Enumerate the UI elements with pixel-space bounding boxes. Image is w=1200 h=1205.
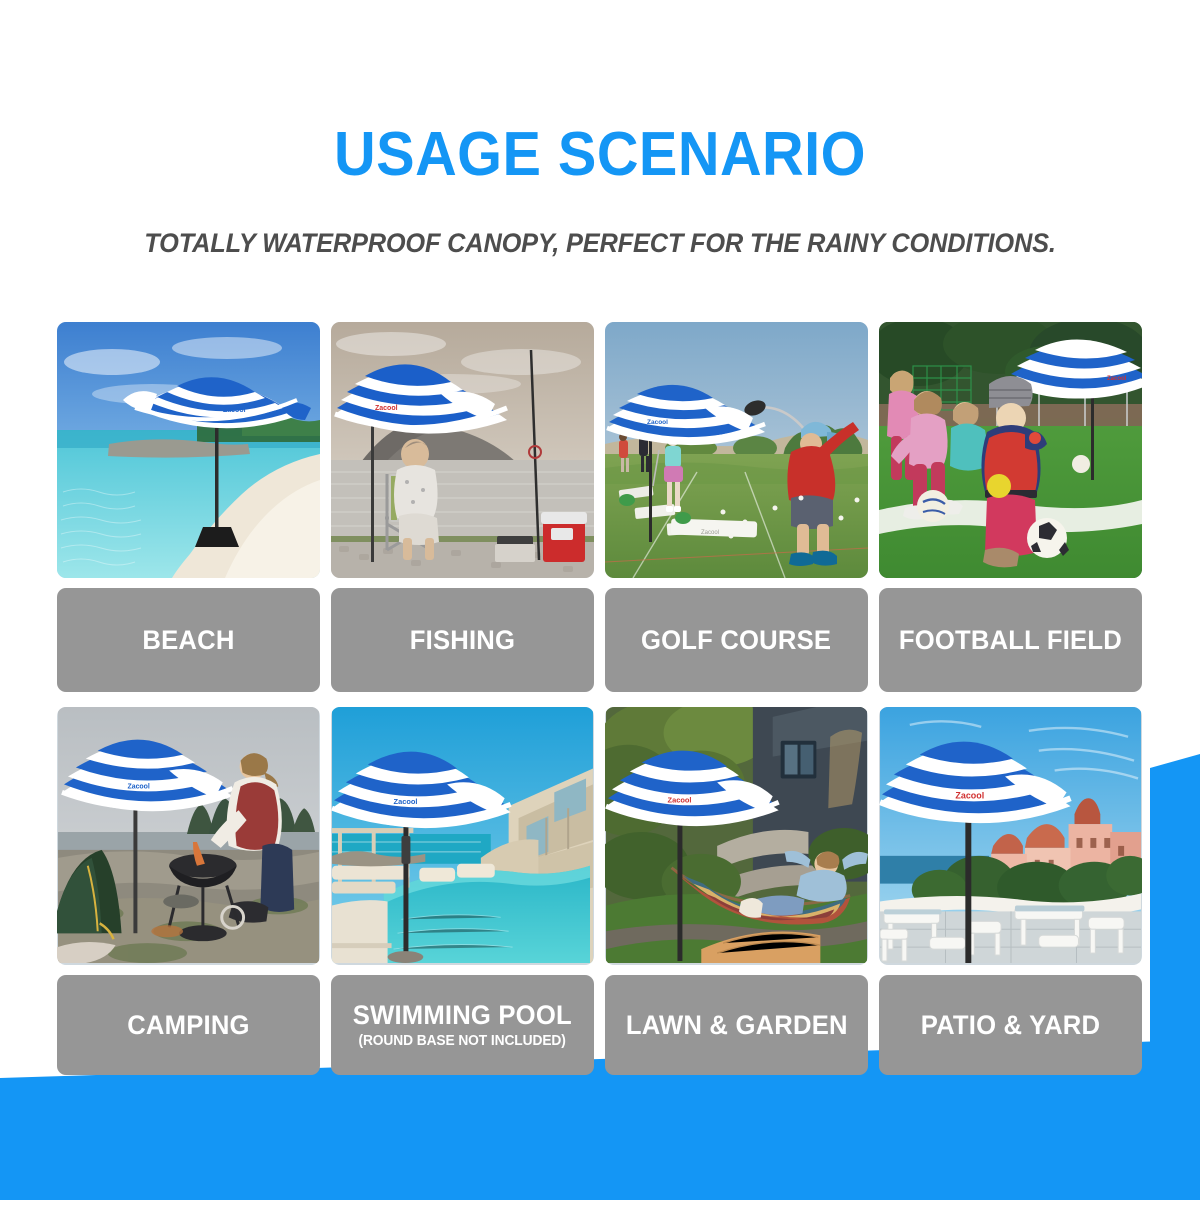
scenario-label: CAMPING bbox=[127, 1011, 249, 1039]
page-title: USAGE SCENARIO bbox=[42, 124, 1158, 186]
scenario-label: PATIO & YARD bbox=[921, 1011, 1100, 1039]
scenario-label-card: LAWN & GARDEN bbox=[605, 975, 868, 1075]
scenario-image-beach: Zacool bbox=[57, 322, 320, 578]
scenario-label: LAWN & GARDEN bbox=[626, 1011, 848, 1039]
svg-text:Zacool: Zacool bbox=[955, 790, 984, 800]
scenario-image-lawn-garden: Zacool bbox=[605, 707, 868, 965]
scenario-image-patio-yard: Zacool bbox=[879, 707, 1142, 965]
svg-text:Zacool: Zacool bbox=[668, 795, 692, 804]
page-subtitle: TOTALLY WATERPROOF CANOPY, PERFECT FOR T… bbox=[36, 228, 1164, 259]
scenario-image-camping: Zacool bbox=[57, 707, 320, 965]
scenario-label: SWIMMING POOL bbox=[353, 1001, 572, 1029]
svg-text:Zacool: Zacool bbox=[223, 407, 246, 414]
scenario-card-patio-yard[interactable]: Zacool PATIO & YARD bbox=[879, 707, 1142, 1075]
scenario-label-card: PATIO & YARD bbox=[879, 975, 1142, 1075]
svg-text:Zacool: Zacool bbox=[701, 530, 719, 536]
scenario-label: FOOTBALL FIELD bbox=[899, 626, 1122, 654]
svg-text:Zacool: Zacool bbox=[375, 405, 398, 412]
svg-text:Zacool: Zacool bbox=[647, 419, 668, 426]
scenario-card-football-field[interactable]: Zacool bbox=[879, 322, 1142, 692]
scenario-card-camping[interactable]: Zacool bbox=[57, 707, 320, 1075]
svg-text:Zacool: Zacool bbox=[127, 783, 149, 790]
scenario-card-golf-course[interactable]: Zacool bbox=[605, 322, 868, 692]
scenario-label: FISHING bbox=[410, 626, 515, 654]
scenario-image-golf-course: Zacool bbox=[605, 322, 868, 578]
scenario-image-football-field: Zacool bbox=[879, 322, 1142, 578]
scenario-label-card: CAMPING bbox=[57, 975, 320, 1075]
scenario-image-fishing: Zacool bbox=[331, 322, 594, 578]
scenario-grid: Zacool BEACH bbox=[57, 322, 1143, 1075]
scenario-label-card: BEACH bbox=[57, 588, 320, 692]
scenario-image-swimming-pool: Zacool bbox=[331, 707, 594, 965]
svg-text:Zacool: Zacool bbox=[1107, 376, 1127, 382]
scenario-card-beach[interactable]: Zacool BEACH bbox=[57, 322, 320, 692]
scenario-sublabel: (ROUND BASE NOT INCLUDED) bbox=[359, 1033, 566, 1049]
header: USAGE SCENARIO TOTALLY WATERPROOF CANOPY… bbox=[0, 0, 1200, 259]
scenario-label: GOLF COURSE bbox=[641, 626, 831, 654]
scenario-label-card: FISHING bbox=[331, 588, 594, 692]
svg-text:Zacool: Zacool bbox=[394, 797, 418, 806]
scenario-label-card: GOLF COURSE bbox=[605, 588, 868, 692]
scenario-card-fishing[interactable]: Zacool bbox=[331, 322, 594, 692]
scenario-card-swimming-pool[interactable]: Zacool SWIMMING POOL (ROUND BASE NOT INC… bbox=[331, 707, 594, 1075]
scenario-label-card: SWIMMING POOL (ROUND BASE NOT INCLUDED) bbox=[331, 975, 594, 1075]
scenario-label-card: FOOTBALL FIELD bbox=[879, 588, 1142, 692]
scenario-label: BEACH bbox=[142, 626, 234, 654]
scenario-card-lawn-garden[interactable]: Zacool LAWN & GARDEN bbox=[605, 707, 868, 1075]
